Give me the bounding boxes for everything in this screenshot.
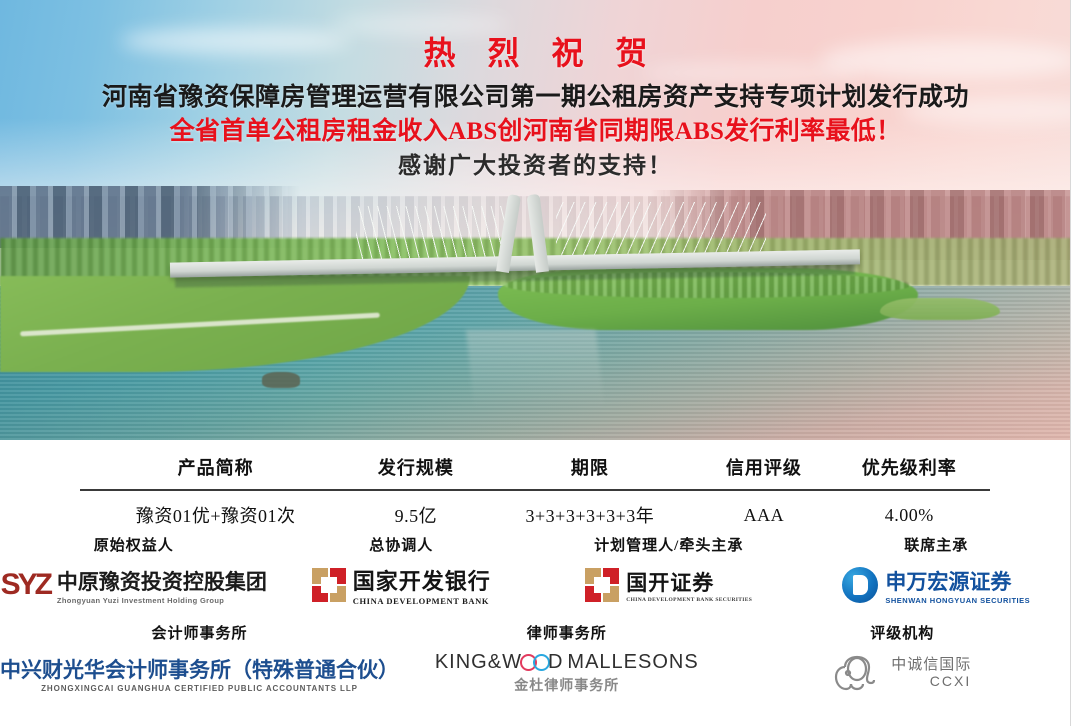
spec-table: 产品简称 发行规模 期限 信用评级 优先级利率 豫资01优+豫资01次 9.5亿…: [80, 440, 990, 537]
party-caption: 联席主承: [803, 534, 1071, 555]
table-header-row: 产品简称 发行规模 期限 信用评级 优先级利率: [80, 440, 990, 490]
party-rating-agency: 评级机构 中诚信国际: [735, 622, 1071, 697]
china-development-bank-logo: 国家开发银行 CHINA DEVELOPMENT BANK: [268, 561, 536, 609]
table-row: 豫资01优+豫资01次 9.5亿 3+3+3+3+3+3年 AAA 4.00%: [80, 490, 990, 537]
party-coordinator: 总协调人 国家开发银行 CHINA DEVELOPMENT BANK: [268, 534, 536, 609]
logo-name-en: CHINA DEVELOPMENT BANK SECURITIES: [626, 597, 752, 603]
party-caption: 评级机构: [735, 622, 1071, 643]
logo-name-en: ZHONGXINGCAI GUANGHUA CERTIFIED PUBLIC A…: [0, 684, 399, 693]
logo-name-cn: 中原豫资投资控股集团: [57, 566, 267, 596]
logo-name-cn: 申万宏源证券: [885, 566, 1030, 596]
bridge-reflection: [466, 330, 604, 408]
logo-name-en-part2: MALLESONS: [567, 651, 698, 674]
party-caption: 原始权益人: [0, 534, 268, 555]
party-plan-manager: 计划管理人/牵头主承 国开证券 CHINA DEVELOPMENT BANK S…: [535, 534, 803, 609]
col-senior-rate: 优先级利率: [829, 440, 991, 490]
bridge-cables-left: [354, 206, 508, 264]
thanks-line: 感谢广大投资者的支持！: [0, 152, 1071, 180]
shenwan-hongyuan-logo: 申万宏源证券 SHENWAN HONGYUAN SECURITIES: [803, 561, 1071, 609]
king-wood-mallesons-logo: KING&WD MALLESONS 金杜律师事务所: [399, 649, 735, 697]
col-issue-size: 发行规模: [351, 440, 480, 490]
subtitle-line-2: 全省首单公租房租金收入ABS创河南省同期限ABS发行利率最低！: [0, 117, 1071, 148]
party-caption: 律师事务所: [399, 622, 735, 643]
col-credit-rating: 信用评级: [699, 440, 828, 490]
syz-monogram-icon: SYZ: [1, 570, 50, 600]
logo-name-en: Zhongyuan Yuzi Investment Holding Group: [57, 596, 267, 605]
logo-name-en: CHINA DEVELOPMENT BANK: [353, 596, 491, 606]
floating-platform: [262, 372, 300, 388]
party-joint-underwriter: 联席主承 申万宏源证券 SHENWAN HONGYUAN SECURITIES: [803, 534, 1071, 609]
cdb-square-icon: [312, 568, 346, 602]
ccxi-logo: 中诚信国际 CCXI: [735, 649, 1071, 697]
party-caption: 会计师事务所: [0, 622, 399, 643]
sponsor-row-1: 原始权益人 SYZ 中原豫资投资控股集团 Zhongyuan Yuzi Inve…: [0, 534, 1070, 609]
cell-credit-rating: AAA: [699, 490, 828, 537]
logo-name-cn: 国家开发银行: [353, 564, 491, 596]
logo-name-en-part1b: D: [548, 651, 563, 673]
title-overlay: 热 烈 祝 贺 河南省豫资保障房管理运营有限公司第一期公租房资产支持专项计划发行…: [0, 0, 1071, 180]
cell-product-name: 豫资01优+豫资01次: [80, 490, 351, 537]
hero-landscape-photo: 热 烈 祝 贺 河南省豫资保障房管理运营有限公司第一期公租房资产支持专项计划发行…: [0, 0, 1071, 440]
cell-tenor: 3+3+3+3+3+3年: [481, 490, 700, 537]
small-island: [880, 298, 1000, 320]
zhongyuan-yuzi-logo: SYZ 中原豫资投资控股集团 Zhongyuan Yuzi Investment…: [0, 561, 268, 609]
party-caption: 总协调人: [268, 534, 536, 555]
logo-name-cn: 中诚信国际: [891, 657, 971, 674]
logo-name-en: CCXI: [891, 673, 971, 689]
logo-name-en-part1: KING&W: [435, 651, 522, 673]
headline: 热 烈 祝 贺: [0, 36, 1071, 71]
logo-name-cn: 金杜律师事务所: [435, 675, 699, 695]
logo-name-cn: 中兴财光华会计师事务所（特殊普通合伙）: [0, 654, 399, 684]
col-tenor: 期限: [481, 440, 700, 490]
party-caption: 计划管理人/牵头主承: [535, 534, 803, 555]
celebration-poster: 热 烈 祝 贺 河南省豫资保障房管理运营有限公司第一期公租房资产支持专项计划发行…: [0, 0, 1071, 726]
subtitle-line-1: 河南省豫资保障房管理运营有限公司第一期公租房资产支持专项计划发行成功: [0, 83, 1071, 114]
cell-senior-rate: 4.00%: [829, 490, 991, 537]
col-product-name: 产品简称: [80, 440, 351, 490]
spec-table-wrapper: 产品简称 发行规模 期限 信用评级 优先级利率 豫资01优+豫资01次 9.5亿…: [0, 440, 1070, 537]
logo-name-cn: 国开证券: [626, 567, 752, 597]
elephant-icon: [833, 653, 885, 693]
cell-issue-size: 9.5亿: [351, 490, 480, 537]
party-originator: 原始权益人 SYZ 中原豫资投资控股集团 Zhongyuan Yuzi Inve…: [0, 534, 268, 609]
party-law-firm: 律师事务所 KING&WD MALLESONS 金杜律师事务所: [399, 622, 735, 697]
sponsor-row-2: 会计师事务所 中兴财光华会计师事务所（特殊普通合伙） ZHONGXINGCAI …: [0, 622, 1070, 697]
bridge-pylon: [492, 196, 564, 272]
logo-name-en: SHENWAN HONGYUAN SECURITIES: [885, 596, 1030, 605]
shenwan-circle-icon: [842, 567, 878, 603]
cdbs-square-icon: [585, 568, 619, 602]
zhongxingcai-guanghua-logo: 中兴财光华会计师事务所（特殊普通合伙） ZHONGXINGCAI GUANGHU…: [0, 649, 399, 697]
party-auditor: 会计师事务所 中兴财光华会计师事务所（特殊普通合伙） ZHONGXINGCAI …: [0, 622, 399, 697]
cdb-securities-logo: 国开证券 CHINA DEVELOPMENT BANK SECURITIES: [535, 561, 803, 609]
